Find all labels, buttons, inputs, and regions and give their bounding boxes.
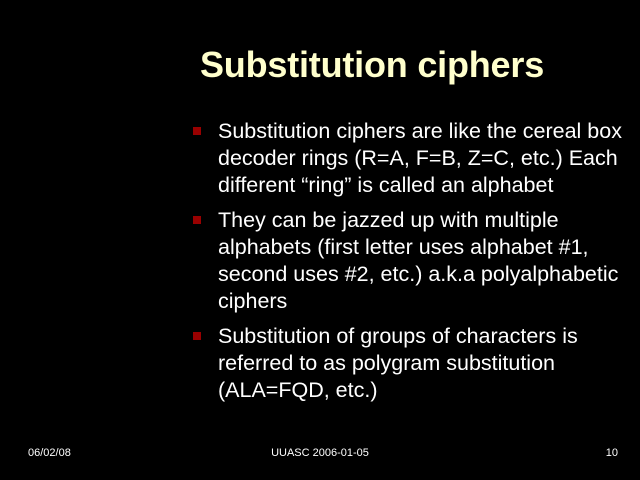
footer-page-number: 10 (606, 446, 618, 460)
bullet-item-text: They can be jazzed up with multiple alph… (218, 207, 632, 315)
bullet-item-text: Substitution of groups of characters is … (218, 323, 632, 404)
bullet-list-item: Substitution ciphers are like the cereal… (190, 118, 632, 199)
bullet-item-text: Substitution ciphers are like the cereal… (218, 118, 632, 199)
slide-body: Substitution ciphers are like the cereal… (190, 118, 632, 412)
square-bullet-icon (193, 332, 201, 340)
bullet-list-item: Substitution of groups of characters is … (190, 323, 632, 404)
presentation-slide: Substitution ciphers Substitution cipher… (0, 0, 640, 480)
square-bullet-icon (193, 127, 201, 135)
slide-title: Substitution ciphers (200, 44, 630, 86)
footer-event-label: UUASC 2006-01-05 (0, 446, 640, 460)
square-bullet-icon (193, 216, 201, 224)
bullet-list-item: They can be jazzed up with multiple alph… (190, 207, 632, 315)
